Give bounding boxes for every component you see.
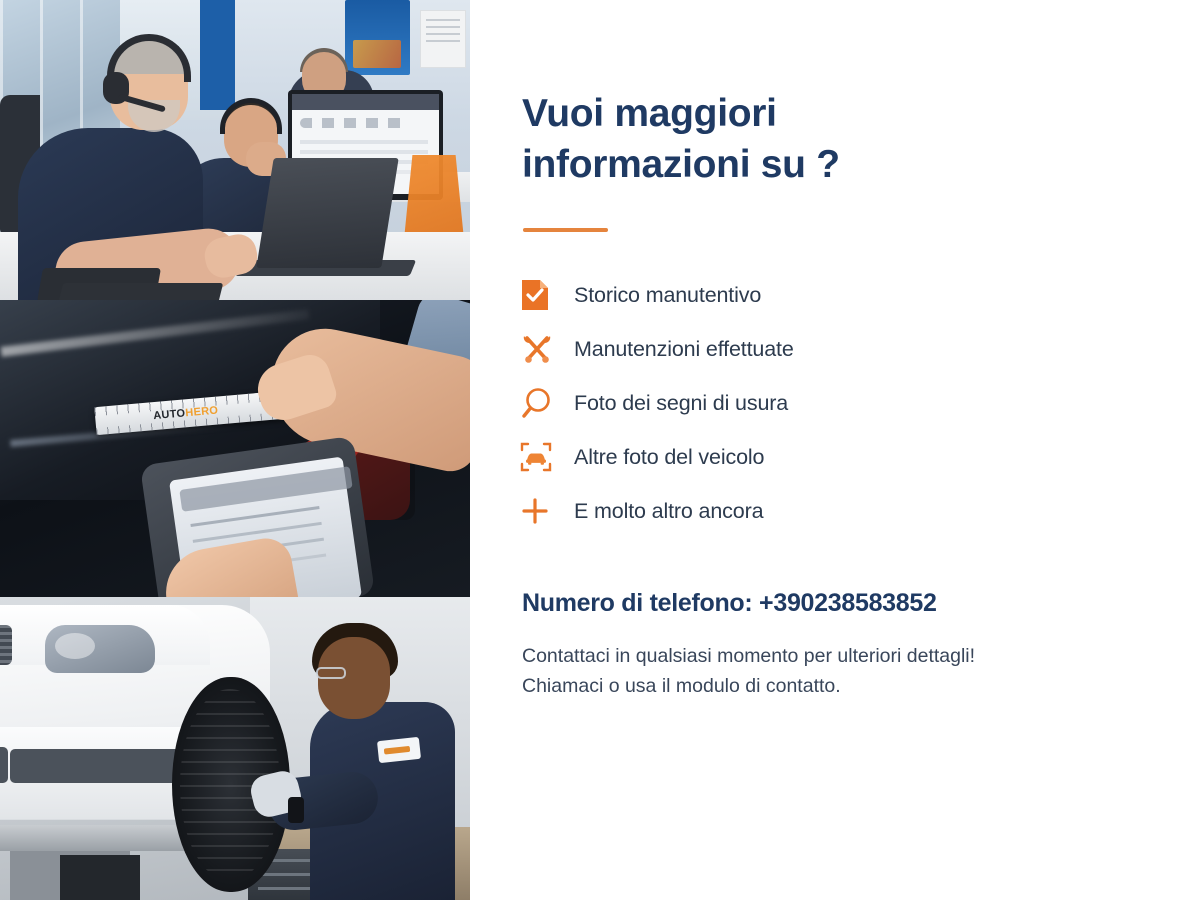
- plus-icon: [520, 496, 574, 526]
- vehicle-inspection-photo: AUTOHERO: [0, 300, 470, 597]
- feature-label: Manutenzioni effettuate: [574, 337, 794, 362]
- magnifier-icon: [520, 386, 574, 420]
- content-panel: Vuoi maggiori informazioni su ? Storico …: [470, 0, 1200, 900]
- contact-info-banner: AUTOHERO Vuoi maggiori informazioni su ?: [0, 0, 1200, 900]
- document-check-icon: [520, 278, 574, 312]
- photo-column: AUTOHERO: [0, 0, 470, 900]
- contact-text: Contattaci in qualsiasi momento per ulte…: [522, 641, 975, 701]
- feature-item-altro: E molto altro ancora: [520, 484, 950, 538]
- feature-item-storico: Storico manutentivo: [520, 268, 950, 322]
- contact-line-2: Chiamaci o usa il modulo di contatto.: [522, 671, 975, 701]
- tools-cross-icon: [520, 332, 574, 366]
- contact-line-1: Contattaci in qualsiasi momento per ulte…: [522, 641, 975, 671]
- call-center-agents-photo: [0, 0, 470, 300]
- feature-label: Altre foto del veicolo: [574, 445, 764, 470]
- feature-item-altre-foto: Altre foto del veicolo: [520, 430, 950, 484]
- feature-item-foto-usura: Foto dei segni di usura: [520, 376, 950, 430]
- workshop-wheel-photo: [0, 597, 470, 900]
- phone-number-line: Numero di telefono: +390238583852: [522, 589, 937, 618]
- feature-list: Storico manutentivo Manutenzi: [520, 268, 950, 538]
- page-title: Vuoi maggiori informazioni su ?: [522, 88, 952, 191]
- feature-label: Foto dei segni di usura: [574, 391, 788, 416]
- car-scan-icon: [520, 441, 574, 473]
- title-divider: [523, 228, 608, 232]
- feature-item-manutenzioni: Manutenzioni effettuate: [520, 322, 950, 376]
- feature-label: Storico manutentivo: [574, 283, 761, 308]
- feature-label: E molto altro ancora: [574, 499, 763, 524]
